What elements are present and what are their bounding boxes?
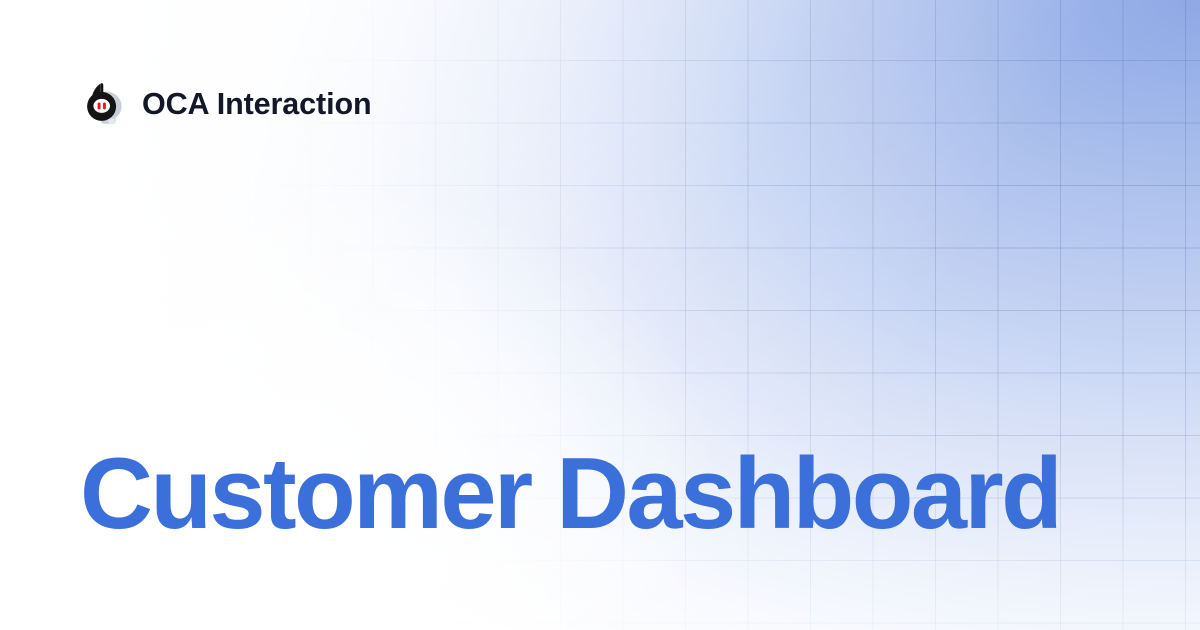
brand-header: OCA Interaction <box>86 80 372 128</box>
og-banner: OCA Interaction Customer Dashboard <box>0 0 1200 630</box>
oca-mascot-icon <box>86 82 124 126</box>
background-bloom-glow <box>0 170 720 630</box>
page-title: Customer Dashboard <box>80 444 1060 545</box>
brand-name: OCA Interaction <box>142 89 372 120</box>
